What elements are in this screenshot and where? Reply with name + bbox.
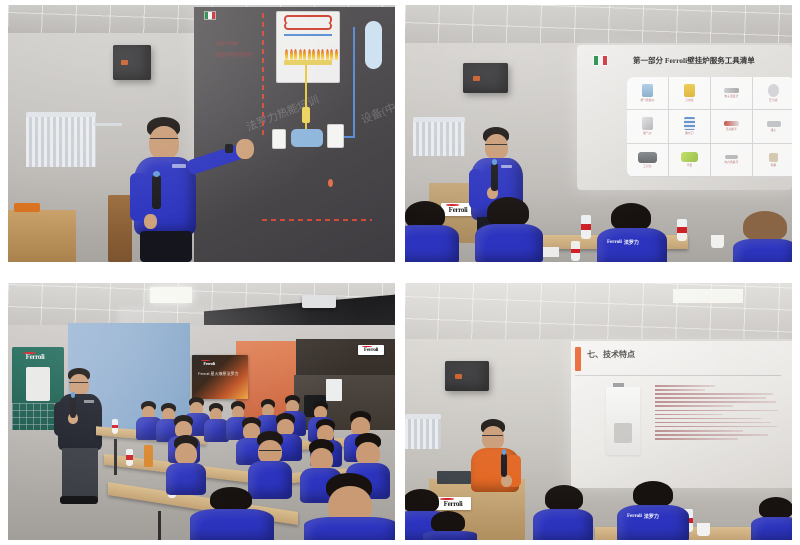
pump-unit	[291, 129, 323, 147]
audience-member	[166, 435, 206, 493]
audience-member	[735, 211, 792, 262]
slide-title-line-2: 壁挂炉结构原理图	[216, 52, 252, 58]
water-bottle	[571, 241, 580, 261]
heat-exchanger-coil-2	[284, 22, 332, 30]
tool-label: 手套	[687, 163, 693, 167]
uniform-brand-name-cn: 法罗力	[624, 239, 639, 246]
tool-label: 毛刷	[771, 163, 777, 167]
tool-cell: 活动扳手	[711, 110, 753, 143]
slide-product-panel	[614, 423, 632, 443]
gas-valve	[302, 107, 310, 123]
paper-cup	[711, 235, 724, 248]
audience-shirt-blue	[475, 224, 543, 262]
paper-cup	[697, 523, 710, 536]
audience-shirt-blue	[304, 517, 395, 540]
slide-accent-bar	[575, 347, 581, 371]
instructor-polo-logo	[84, 400, 94, 403]
burner-flames-icon	[285, 49, 338, 60]
burner-bar	[284, 60, 332, 65]
slide-body-lines	[655, 385, 781, 442]
tool-list-table: 燃气检漏仪 万用表 电子温度计 压力表 烟气仪 螺丝刀	[627, 77, 792, 177]
tool-label: 螺丝刀	[685, 131, 693, 135]
tool-cell: 压力表	[753, 77, 792, 110]
wall-radiator	[26, 115, 96, 167]
audience-shirt-blue	[190, 509, 274, 540]
ceiling-tile-grid	[405, 5, 792, 45]
flow-pipe-red-horizontal	[262, 219, 372, 221]
audience-hair	[210, 487, 252, 511]
audience-hair	[545, 485, 583, 511]
uniform-brand-logo: Ferroli 法罗力	[627, 513, 659, 520]
presenter-glasses-icon	[482, 435, 503, 438]
desk-leg	[158, 511, 161, 540]
slide-title: 第一部分 Ferroli壁挂炉服务工具清单	[633, 55, 755, 66]
tool-cell: 燃气检漏仪	[627, 77, 669, 110]
microphone	[501, 453, 507, 477]
audience-shirt-blue	[405, 225, 459, 262]
audience-member	[477, 197, 539, 262]
ceiling-light	[150, 287, 192, 303]
shelf-boiler-product	[326, 379, 342, 401]
tool-cell: 手套	[669, 144, 711, 177]
instructor-glasses-icon	[69, 382, 88, 385]
photo-grid: 法罗力热能 壁挂炉结构原理图 法罗力热能培训 设备(中	[8, 5, 792, 540]
audience-shirt-blue	[423, 531, 477, 540]
photo-top-left[interactable]: 法罗力热能 壁挂炉结构原理图 法罗力热能培训 设备(中	[8, 5, 395, 262]
presenter-glasses-icon	[485, 144, 507, 147]
trainer-left-arm	[130, 173, 146, 221]
laptop	[437, 471, 471, 484]
supply-pipe-blue-right	[353, 27, 355, 137]
instructor-person	[56, 368, 111, 508]
water-bottle	[126, 449, 133, 466]
microphone	[152, 175, 161, 209]
pliers-icon	[767, 121, 781, 127]
photo-bottom-right[interactable]: 七、技术特点 Ferroli	[405, 283, 792, 540]
uniform-brand-name-cn: 法罗力	[644, 513, 659, 520]
uniform-brand-name: Ferroli	[627, 514, 642, 519]
gloves-icon	[681, 152, 698, 162]
water-bottle	[112, 419, 118, 434]
flow-pipe-red-vertical	[262, 13, 264, 138]
ceiling	[405, 5, 792, 45]
cabinet-ferroli-logo: Ferroli	[18, 351, 52, 362]
tool-cell: 工具包	[627, 144, 669, 177]
audience-member-foreground	[190, 487, 272, 540]
tool-label: 工具包	[643, 164, 651, 168]
audience-shirt-blue	[751, 517, 792, 540]
photo-bottom-left[interactable]: Ferroli Ferroli 星火燎原法罗力 Ferroli Ferroli	[8, 283, 395, 540]
pressure-gauge-icon	[768, 84, 779, 97]
audience-member	[423, 511, 475, 540]
poster-ferroli-logo: Ferroli	[198, 359, 220, 367]
trainer-right-hand	[236, 139, 254, 159]
audience-hair	[633, 481, 673, 507]
tool-bag-icon	[638, 152, 657, 163]
audience-member	[751, 497, 792, 540]
flue-gas-analyzer-icon	[642, 117, 653, 130]
slide-title-underline	[575, 375, 781, 376]
italy-flag-icon	[593, 55, 608, 66]
photo-top-right[interactable]: 第一部分 Ferroli壁挂炉服务工具清单 燃气检漏仪 万用表 电子温度计 压力…	[405, 5, 792, 262]
slide-product-image	[606, 387, 640, 455]
cabinet-product	[26, 367, 50, 401]
audience-member: Ferroli 法罗力	[617, 481, 687, 540]
tool-label: 燃气检漏仪	[641, 98, 655, 102]
wall-radiator	[413, 120, 465, 156]
audience-hair	[611, 203, 651, 231]
slide-title: 七、技术特点	[587, 349, 635, 360]
ceiling-speaker	[113, 45, 151, 80]
screwdriver-set-icon	[684, 117, 695, 130]
tool-label: 钳子	[771, 128, 777, 132]
tool-cell: 内六角扳手	[711, 144, 753, 177]
uniform-brand-logo: Ferroli 法罗力	[607, 239, 639, 246]
return-pipe-blue	[284, 34, 332, 36]
ceiling-light	[673, 289, 743, 303]
trainer-trousers	[140, 231, 192, 262]
uniform-brand-name: Ferroli	[607, 240, 622, 245]
poster-slogan: Ferroli 星火燎原法罗力	[198, 371, 238, 377]
trainer-collar-logo	[172, 164, 186, 168]
audience-hair	[743, 211, 787, 241]
multimeter-icon	[684, 84, 695, 97]
tool-label: 压力表	[769, 98, 777, 102]
instructor-trousers	[62, 448, 98, 498]
trainer-left-hand	[144, 214, 157, 229]
hex-key-icon	[725, 155, 738, 159]
audience-shirt-blue	[733, 239, 792, 262]
microphone	[70, 396, 76, 418]
presenter-head	[482, 426, 504, 450]
audience-shirt-blue	[533, 509, 593, 540]
toolbox-orange	[14, 203, 40, 212]
audience-hair	[431, 511, 465, 533]
water-bottle	[677, 219, 687, 241]
ceiling-speaker	[445, 361, 489, 391]
desk-leg	[114, 439, 117, 475]
trainer-watch	[225, 144, 233, 153]
thermos-orange	[144, 445, 153, 467]
brush-icon	[769, 153, 778, 162]
slide-product-label	[613, 383, 624, 387]
instructor-arm	[54, 402, 65, 436]
shelf-ferroli-sign: Ferroli	[358, 345, 384, 355]
thermometer-icon	[724, 88, 739, 93]
italy-flag-icon	[204, 11, 216, 20]
audience-member	[405, 201, 457, 262]
presenter-head	[485, 134, 508, 160]
audience-hair	[759, 497, 792, 519]
water-bottle	[581, 215, 591, 239]
trainer-head	[149, 126, 179, 160]
tool-label: 电子温度计	[725, 94, 739, 98]
audience-member: Ferroli 法罗力	[601, 203, 663, 262]
audience-glasses-icon	[259, 450, 281, 453]
radiator-pipe	[94, 123, 122, 126]
tool-cell: 烟气仪	[627, 110, 669, 143]
audience-member	[533, 485, 591, 540]
presenter-person-orange	[469, 419, 527, 489]
sensor-dot	[328, 179, 333, 187]
adjustable-wrench-icon	[724, 121, 739, 126]
instructor-shoes	[60, 496, 98, 504]
valve-block-left	[272, 129, 286, 149]
expansion-tank	[365, 21, 382, 69]
trainer-glasses-icon	[150, 138, 178, 142]
tool-cell: 万用表	[669, 77, 711, 110]
microphone	[491, 163, 498, 191]
tool-label: 活动扳手	[726, 127, 737, 131]
audience-hair	[405, 489, 439, 513]
tool-label: 内六角扳手	[725, 160, 739, 164]
wall-radiator	[405, 417, 441, 449]
tool-label: 烟气仪	[643, 131, 651, 135]
audience-member-foreground	[304, 473, 395, 540]
trainer-person	[126, 117, 256, 262]
tool-label: 万用表	[685, 98, 693, 102]
trainer-right-arm	[186, 144, 244, 176]
presenter-collar-logo	[501, 165, 512, 168]
wooden-cabinet	[8, 210, 76, 262]
gas-detector-icon	[642, 84, 653, 97]
tool-cell: 钳子	[753, 110, 792, 143]
tool-cell: 毛刷	[753, 144, 792, 177]
audience-shirt-blue	[617, 505, 689, 540]
slide-title-line-1: 法罗力热能	[216, 41, 239, 47]
ceiling-speaker	[463, 63, 508, 93]
audience-head	[175, 443, 197, 465]
audience-hair	[487, 197, 529, 227]
tool-cell: 螺丝刀	[669, 110, 711, 143]
tool-cell: 电子温度计	[711, 77, 753, 110]
valve-block-right	[327, 124, 344, 148]
